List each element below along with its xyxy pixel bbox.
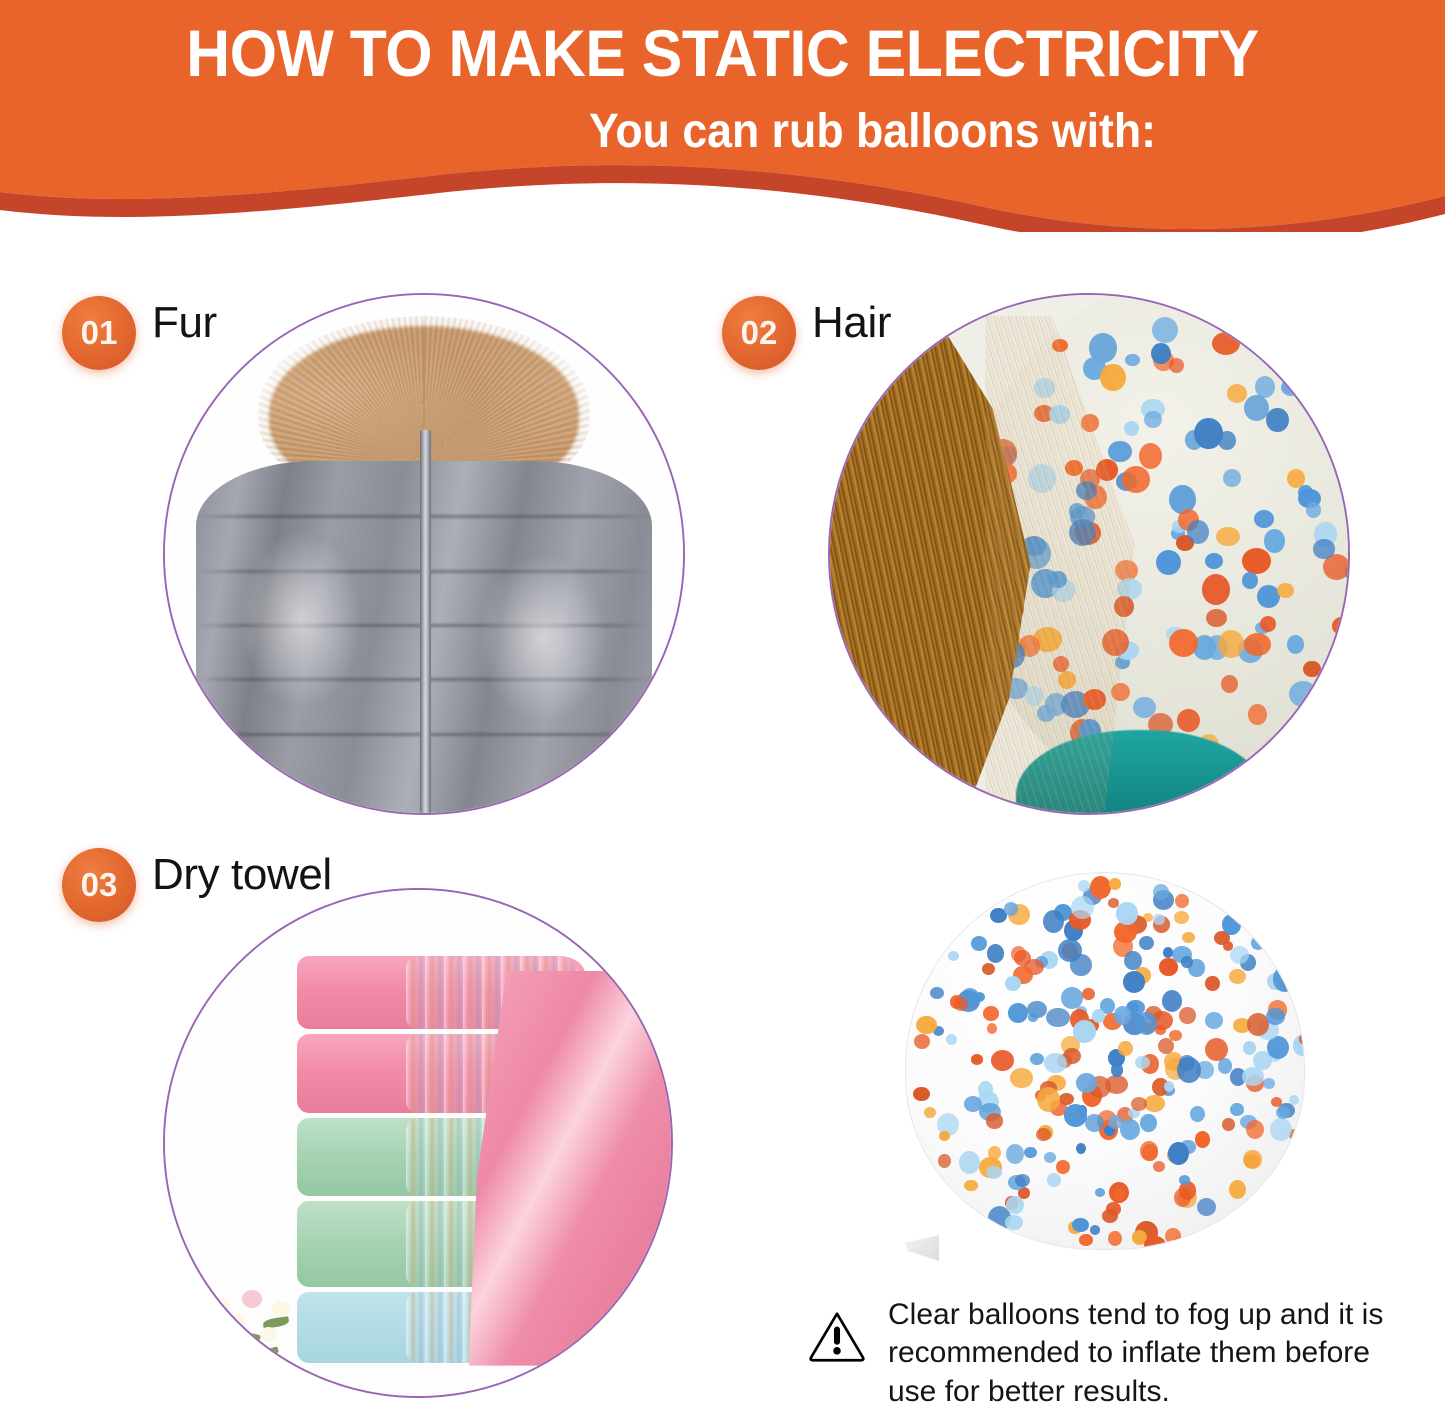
confetti-dot [1082,988,1094,1000]
header-wave-shape [0,0,1445,232]
towel-stack-image [165,890,671,1396]
photo-circle-dry-towel [163,888,673,1398]
confetti-dot [1046,1008,1069,1027]
draped-pink-towel [469,971,673,1366]
hair-balloon-image [830,295,1348,813]
confetti-dot [1212,332,1240,355]
page-header: HOW TO MAKE STATIC ELECTRICITY You can r… [0,0,1445,232]
confetti-dot [987,1023,998,1034]
confetti-dot [1108,1231,1122,1246]
confetti-dot [1248,704,1267,725]
confetti-dot [1227,384,1247,403]
confetti-dot [1153,884,1169,900]
confetti-dot [1118,1041,1133,1056]
confetti-dot [1195,1131,1211,1148]
flower-bloom [199,1332,214,1346]
confetti-dot [1043,910,1064,934]
confetti-dot [1085,1114,1104,1132]
confetti-dot [1173,1237,1184,1247]
confetti-dot [1157,293,1173,306]
confetti-dot [1254,510,1274,528]
confetti-dot [1169,1030,1182,1041]
leaf [229,1329,260,1345]
confetti-dot [1266,408,1289,433]
confetti-dot [1175,894,1189,909]
confetti-dot [1230,946,1249,964]
confetti-dot [991,1050,1015,1071]
confetti-dot [1281,379,1302,397]
photo-circle-hair [828,293,1350,815]
confetti-dot [1216,527,1240,546]
confetti-dot [1125,354,1139,367]
confetti-dot [1124,421,1139,436]
confetti-dot [982,963,995,975]
confetti-dot [1139,936,1154,950]
fabric-highlight [479,555,607,722]
confetti-dot [1252,311,1281,340]
confetti-dot [1071,896,1094,919]
step-badge-02: 02 [722,296,796,370]
confetti-dot [1205,1012,1223,1029]
confetti-dot [1243,1150,1262,1170]
confetti-dot [1142,1144,1158,1162]
confetti-dot [1246,1120,1264,1139]
confetti-dot [1152,317,1178,343]
confetti-dot [1124,951,1142,971]
confetti-dot [913,1087,930,1101]
confetti-dot [1270,1118,1292,1141]
confetti-dot [1298,485,1312,500]
confetti-dot [1116,902,1137,924]
confetti-dot [1073,1020,1096,1043]
confetti-dot [1229,969,1247,985]
confetti-dot [983,1006,999,1020]
confetti-dot [1006,1196,1023,1214]
confetti-dot [1182,932,1196,944]
jacket-zipper [420,430,431,813]
confetti-dot [1303,661,1321,678]
confetti-dot [1287,635,1304,654]
confetti-dot [1111,1063,1123,1076]
step-badge-03: 03 [62,848,136,922]
confetti-dot [1168,1142,1189,1165]
confetti-dot [1174,1188,1191,1207]
confetti-dot [1024,1147,1037,1158]
flower-bloom [230,1314,246,1329]
confetti-dot [1289,782,1305,796]
confetti-dot [1347,452,1350,473]
confetti-dot [1181,956,1192,968]
confetti-dot [914,1034,931,1049]
confetti-dot [1169,629,1199,657]
confetti-dot [1243,1041,1256,1055]
confetti-dot [1030,1053,1044,1066]
confetti-dot [1277,583,1294,598]
confetti-dot [1313,539,1335,558]
warning-note: Clear balloons tend to fog up and it is … [808,1296,1388,1411]
confetti-dot [1078,880,1090,892]
flower-arrangement [190,1270,342,1381]
product-confetti-balloon [905,872,1305,1250]
confetti-dot [1206,609,1227,628]
confetti-dot [1136,1012,1157,1035]
confetti-dot [930,987,944,999]
confetti-dot [1090,876,1111,899]
confetti-dot [1076,1143,1087,1155]
confetti-dot [987,944,1004,963]
confetti-dot [1287,469,1305,488]
confetti-dot [1109,878,1121,890]
confetti-dot [1345,495,1350,518]
confetti-dot [1076,1073,1097,1092]
confetti-dot [1290,307,1307,323]
confetti-dot [1264,753,1287,777]
photo-circle-fur [163,293,685,815]
confetti-dot [1156,550,1181,575]
confetti-dot [1153,914,1164,926]
confetti-dot [1177,709,1200,733]
confetti-dot [1044,1053,1067,1074]
confetti-dot [1144,411,1162,428]
confetti-dot [1284,745,1300,762]
confetti-dot [1108,898,1119,908]
confetti-dot [1331,636,1350,664]
confetti-dot [1140,1114,1157,1133]
confetti-dot [916,1016,937,1035]
confetti-dot [1264,529,1286,553]
confetti-dot [1222,914,1242,935]
confetti-dot [1113,1189,1125,1201]
confetti-dot [1036,1128,1050,1141]
confetti-dot [924,1107,936,1118]
confetti-dot [1244,633,1271,656]
step-badge-01: 01 [62,296,136,370]
confetti-dot [1197,1198,1216,1216]
confetti-dot [1169,358,1184,373]
confetti-dot [1260,616,1276,632]
confetti-dot [1072,1218,1089,1232]
confetti-dot [1090,1225,1100,1235]
confetti-dot [1037,1087,1060,1112]
confetti-dot [948,951,959,961]
confetti-dot [1322,413,1349,441]
confetti-dot [971,936,987,951]
confetti-dot [1144,1236,1166,1249]
balloon-neck [905,1235,939,1261]
confetti-dot [938,1154,951,1168]
confetti-dot [1266,1008,1285,1024]
confetti-dot [1332,617,1350,635]
confetti-dot [1123,971,1145,993]
step-number-01: 01 [81,314,118,352]
confetti-dot [1303,346,1332,372]
confetti-dot [1263,1078,1274,1089]
confetti-dot [939,1131,951,1142]
confetti-dot [1028,1013,1039,1022]
confetti-dot [1339,340,1350,359]
confetti-dot [1242,548,1271,574]
confetti-dot [1162,990,1182,1012]
flower-bloom [272,1301,290,1317]
confetti-dot [1044,1152,1057,1163]
confetti-dot [1005,976,1021,991]
confetti-dot [1242,572,1258,589]
confetti-dot [1222,1118,1235,1131]
confetti-dot [1079,1234,1093,1246]
confetti-dot [1194,418,1223,450]
confetti-dot [1251,936,1265,950]
confetti-dot [1205,976,1220,992]
confetti-dot [1108,441,1131,463]
confetti-dot [1174,911,1189,925]
confetti-dot [959,1151,980,1174]
confetti-dot [986,1166,1002,1180]
confetti-dot [1334,361,1350,385]
confetti-dot [1344,727,1350,752]
confetti-dot [1155,1025,1166,1034]
confetti-dot [1179,1055,1196,1071]
confetti-dot [1015,1174,1030,1187]
confetti-dot [1100,364,1125,392]
flower-bloom [242,1290,262,1308]
confetti-dot [1221,675,1238,693]
confetti-dot [1144,1095,1165,1113]
confetti-dot [1179,1007,1196,1024]
flower-bloom [212,1298,230,1314]
confetti-dot [1223,469,1241,488]
confetti-dot [1289,681,1317,707]
confetti-dot [946,1034,957,1045]
confetti-dot [1190,1106,1205,1122]
confetti-dot [1131,1097,1147,1111]
leaf [250,1346,279,1362]
confetti-dot [1056,1160,1070,1174]
confetti-dot [1064,1104,1087,1126]
step-number-03: 03 [81,866,118,904]
confetti-dot [986,1113,1004,1128]
confetti-dot [1205,553,1223,570]
confetti-dot [1010,1068,1033,1088]
confetti-dot [1306,502,1321,517]
confetti-dot [964,1180,978,1192]
confetti-dot [1114,1006,1131,1024]
confetti-dot [1047,1173,1061,1188]
confetti-dot [1008,1003,1028,1023]
confetti-dot [1092,1009,1105,1023]
confetti-dot [1120,1119,1140,1140]
confetti-dot [1014,950,1030,966]
confetti-dot [1187,520,1210,544]
confetti-dots-product [906,873,1304,1249]
confetti-dot [1005,1215,1024,1230]
leaf [214,1342,247,1362]
warning-triangle-icon [808,1296,866,1376]
confetti-dot [1102,1209,1118,1223]
step-number-02: 02 [741,314,778,352]
confetti-dot [1006,1144,1024,1164]
confetti-dot [1153,1161,1165,1172]
confetti-dot [1230,1103,1244,1116]
fur-jacket-image [165,295,683,813]
confetti-dot [1122,466,1151,493]
confetti-dot [1229,1180,1246,1199]
confetti-dot [1108,1115,1123,1129]
confetti-dot [1215,310,1231,324]
flower-bloom [260,1327,277,1342]
confetti-dot [1273,966,1297,992]
confetti-dot [1061,987,1083,1009]
confetti-dot [971,1054,983,1064]
confetti-dot [1202,574,1231,605]
confetti-dot [1139,443,1162,469]
confetti-dot [1289,1095,1299,1105]
warning-text: Clear balloons tend to fog up and it is … [888,1296,1388,1411]
confetti-dot [1095,1188,1105,1197]
confetti-dot [1308,720,1329,740]
